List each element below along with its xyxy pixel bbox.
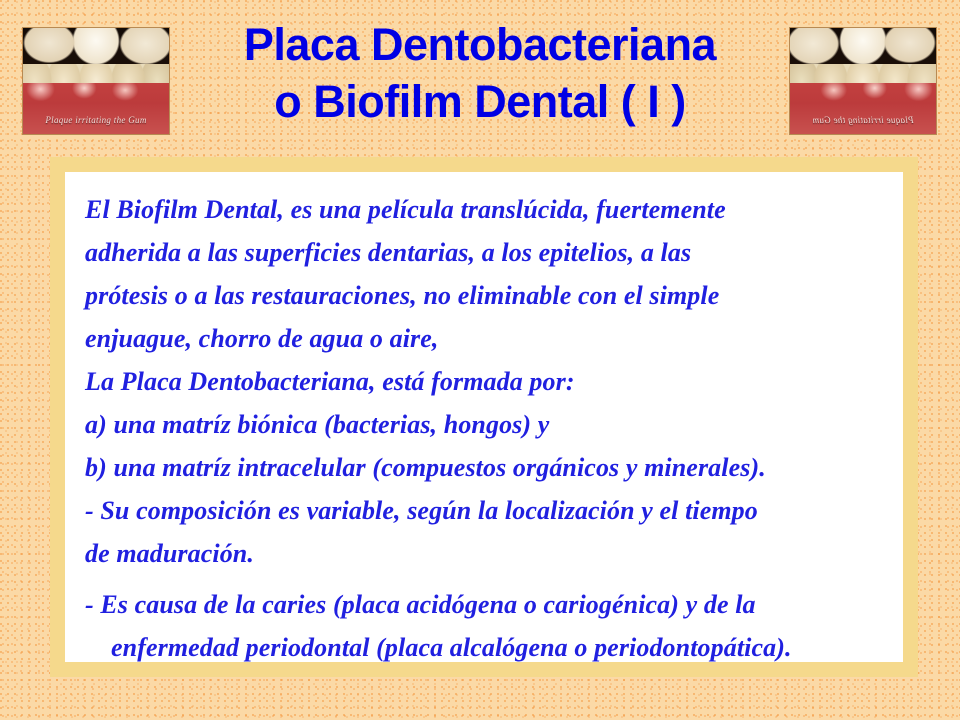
body-line: La Placa Dentobacteriana, está formada p… — [85, 360, 883, 403]
slide-canvas: Plaque irritating the Gum Placa Dentobac… — [0, 0, 960, 720]
body-line: de maduración. — [85, 532, 883, 575]
tooth-photo-right: Plaque irritating the Gum — [789, 27, 937, 135]
body-line: - Es causa de la caries (placa acidógena… — [85, 583, 883, 626]
body-line: enjuague, chorro de agua o aire, — [85, 317, 883, 360]
tooth-photo-left-caption: Plaque irritating the Gum — [23, 115, 169, 125]
tooth-photo-left: Plaque irritating the Gum — [22, 27, 170, 135]
body-text-block: El Biofilm Dental, es una película trans… — [85, 188, 883, 669]
slide-title: Placa Dentobacteriana o Biofilm Dental (… — [150, 16, 810, 130]
body-line: a) una matríz biónica (bacterias, hongos… — [85, 403, 883, 446]
tooth-photo-right-caption: Plaque irritating the Gum — [790, 115, 936, 125]
photo-gum — [790, 83, 936, 134]
body-line: El Biofilm Dental, es una película trans… — [85, 188, 883, 231]
slide-title-line-2: o Biofilm Dental ( I ) — [150, 73, 810, 130]
content-panel: El Biofilm Dental, es una película trans… — [65, 172, 903, 662]
body-line: b) una matríz intracelular (compuestos o… — [85, 446, 883, 489]
body-line: prótesis o a las restauraciones, no elim… — [85, 274, 883, 317]
body-line: adherida a las superficies dentarias, a … — [85, 231, 883, 274]
photo-gum — [23, 83, 169, 134]
body-line: enfermedad periodontal (placa alcalógena… — [85, 626, 883, 669]
slide-title-line-1: Placa Dentobacteriana — [150, 16, 810, 73]
content-panel-frame: El Biofilm Dental, es una película trans… — [50, 157, 918, 677]
body-line: - Su composición es variable, según la l… — [85, 489, 883, 532]
slide-header: Plaque irritating the Gum Placa Dentobac… — [0, 0, 960, 150]
tooth-photo-right-image: Plaque irritating the Gum — [790, 28, 936, 134]
